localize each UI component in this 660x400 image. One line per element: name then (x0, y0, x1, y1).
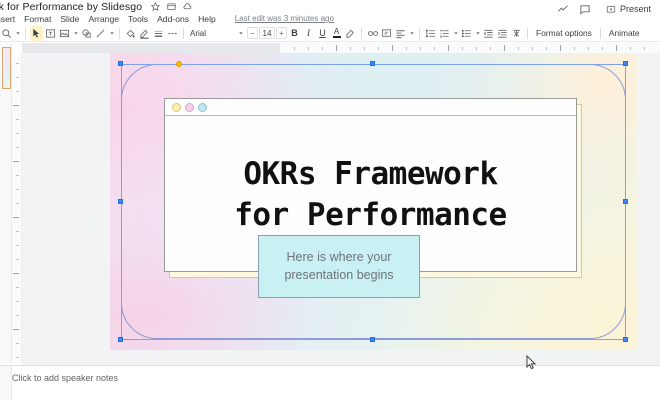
line-weight-icon[interactable] (152, 26, 165, 41)
slide-editing-surface[interactable]: OKRs Framework for Performance Here is w… (110, 53, 637, 350)
toolbar-divider (527, 28, 528, 39)
font-dropdown-caret (237, 30, 244, 36)
textbox-icon[interactable] (44, 26, 57, 41)
line-spacing-icon[interactable] (424, 26, 437, 41)
slide-thumbnail-1[interactable] (2, 47, 11, 89)
toolbar-divider (119, 28, 120, 39)
ruler-content-region (280, 43, 660, 53)
resize-handle-mid-left[interactable] (118, 199, 123, 204)
resize-handle-bottom-left[interactable] (118, 337, 123, 342)
cloud-saved-icon[interactable] (183, 2, 192, 11)
subtitle-card[interactable]: Here is where your presentation begins (258, 235, 420, 298)
line-icon[interactable] (94, 26, 107, 41)
bulleted-list-caret[interactable] (474, 30, 481, 36)
formatting-toolbar: Arial − 14 + B I U A (0, 25, 660, 42)
image-icon[interactable] (58, 26, 71, 41)
thumbnail-preview (3, 48, 10, 88)
select-cursor-icon[interactable] (30, 26, 43, 41)
font-size-decrease-button[interactable]: − (247, 27, 258, 39)
link-icon[interactable] (366, 26, 379, 41)
align-dropdown-caret[interactable] (408, 30, 415, 36)
underline-label: U (319, 28, 326, 38)
bold-label: B (291, 28, 298, 38)
subtitle-text: Here is where your presentation begins (284, 249, 393, 285)
slides-app-window: rk for Performance by Slidesgo nsert For… (0, 0, 660, 400)
fill-color-icon[interactable] (124, 26, 137, 41)
star-icon[interactable] (151, 2, 160, 11)
slide-canvas[interactable]: OKRs Framework for Performance Here is w… (22, 53, 660, 365)
notes-left-strip (0, 366, 12, 400)
menu-item-slide[interactable]: Slide (60, 14, 79, 24)
font-size-increase-button[interactable]: + (276, 27, 287, 39)
highlight-icon[interactable] (344, 26, 357, 41)
italic-label: I (307, 28, 310, 38)
font-family-value: Arial (190, 29, 206, 38)
last-edit-link[interactable]: Last edit was 3 minutes ago (235, 14, 334, 23)
speaker-notes-pane[interactable]: Click to add speaker notes (0, 365, 660, 400)
indent-more-icon[interactable] (496, 26, 509, 41)
zoom-dropdown-caret[interactable] (14, 30, 21, 36)
window-dot-yellow (172, 103, 181, 112)
toolbar-divider (361, 28, 362, 39)
line-dropdown-caret[interactable] (108, 30, 115, 36)
shape-icon[interactable] (80, 26, 93, 41)
italic-button[interactable]: I (302, 26, 315, 41)
toolbar-divider (183, 28, 184, 39)
text-color-button[interactable]: A (330, 26, 343, 41)
clear-formatting-icon[interactable] (510, 26, 523, 41)
horizontal-ruler[interactable] (22, 43, 660, 53)
mouse-cursor (526, 355, 537, 375)
vertical-ruler[interactable] (12, 53, 22, 363)
bulleted-list-icon[interactable] (460, 26, 473, 41)
menu-item-format[interactable]: Format (24, 14, 51, 24)
image-dropdown-caret[interactable] (72, 30, 79, 36)
resize-handle-top-right[interactable] (623, 61, 628, 66)
comment-icon[interactable] (579, 4, 592, 15)
zoom-icon[interactable] (0, 26, 13, 41)
window-dot-blue (198, 103, 207, 112)
font-size-input[interactable]: 14 (259, 27, 275, 39)
numbered-list-caret[interactable] (452, 30, 459, 36)
font-family-select[interactable]: Arial (188, 27, 246, 40)
present-screen-icon (606, 5, 616, 14)
underline-button[interactable]: U (316, 26, 329, 41)
line-dash-icon[interactable] (166, 26, 179, 41)
indent-less-icon[interactable] (482, 26, 495, 41)
speaker-notes-placeholder[interactable]: Click to add speaker notes (12, 373, 118, 383)
resize-handle-bottom-center[interactable] (370, 337, 375, 342)
document-title[interactable]: rk for Performance by Slidesgo (0, 1, 142, 13)
move-to-folder-icon[interactable] (167, 2, 176, 11)
slide-filmstrip[interactable] (0, 43, 12, 363)
menu-item-tools[interactable]: Tools (128, 14, 148, 24)
resize-handle-top-center[interactable] (370, 61, 375, 66)
toolbar-divider (419, 28, 420, 39)
line-color-icon[interactable] (138, 26, 151, 41)
menu-item-arrange[interactable]: Arrange (88, 14, 119, 24)
slide-title-text[interactable]: OKRs Framework for Performance (234, 154, 506, 236)
title-icon-group (151, 2, 192, 11)
text-color-label: A (334, 28, 339, 36)
resize-handle-mid-right[interactable] (623, 199, 628, 204)
font-size-stepper: − 14 + (247, 27, 287, 39)
animate-button[interactable]: Animate (605, 28, 644, 38)
present-button[interactable]: Present (601, 2, 656, 16)
toolbar-divider (600, 28, 601, 39)
comment-add-icon[interactable] (380, 26, 393, 41)
ruler-margin-region (22, 43, 280, 53)
top-right-actions: Present (557, 2, 656, 16)
corner-radius-handle[interactable] (176, 61, 182, 67)
present-button-label: Present (620, 4, 651, 14)
window-dot-pink (185, 103, 194, 112)
resize-handle-bottom-right[interactable] (623, 337, 628, 342)
menu-item-addons[interactable]: Add-ons (157, 14, 189, 24)
menu-item-help[interactable]: Help (198, 14, 216, 24)
bold-button[interactable]: B (288, 26, 301, 41)
text-color-swatch (333, 36, 341, 38)
browser-window-titlebar (165, 99, 576, 116)
resize-handle-top-left[interactable] (118, 61, 123, 66)
toolbar-divider (25, 28, 26, 39)
align-icon[interactable] (394, 26, 407, 41)
menu-item-insert[interactable]: nsert (0, 14, 15, 24)
numbered-list-icon[interactable] (438, 26, 451, 41)
format-options-button[interactable]: Format options (532, 28, 596, 38)
activity-trend-icon[interactable] (557, 4, 570, 15)
